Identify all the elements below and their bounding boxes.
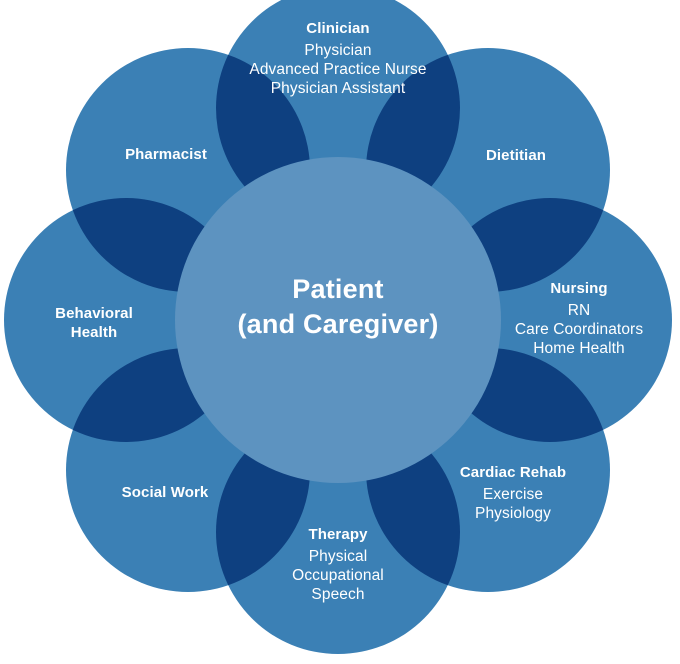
care-team-venn-diagram: ClinicianPhysicianAdvanced Practice Nurs… bbox=[0, 0, 680, 664]
patient-hub-circle[interactable] bbox=[175, 157, 501, 483]
petal-circles-svg bbox=[0, 0, 680, 664]
